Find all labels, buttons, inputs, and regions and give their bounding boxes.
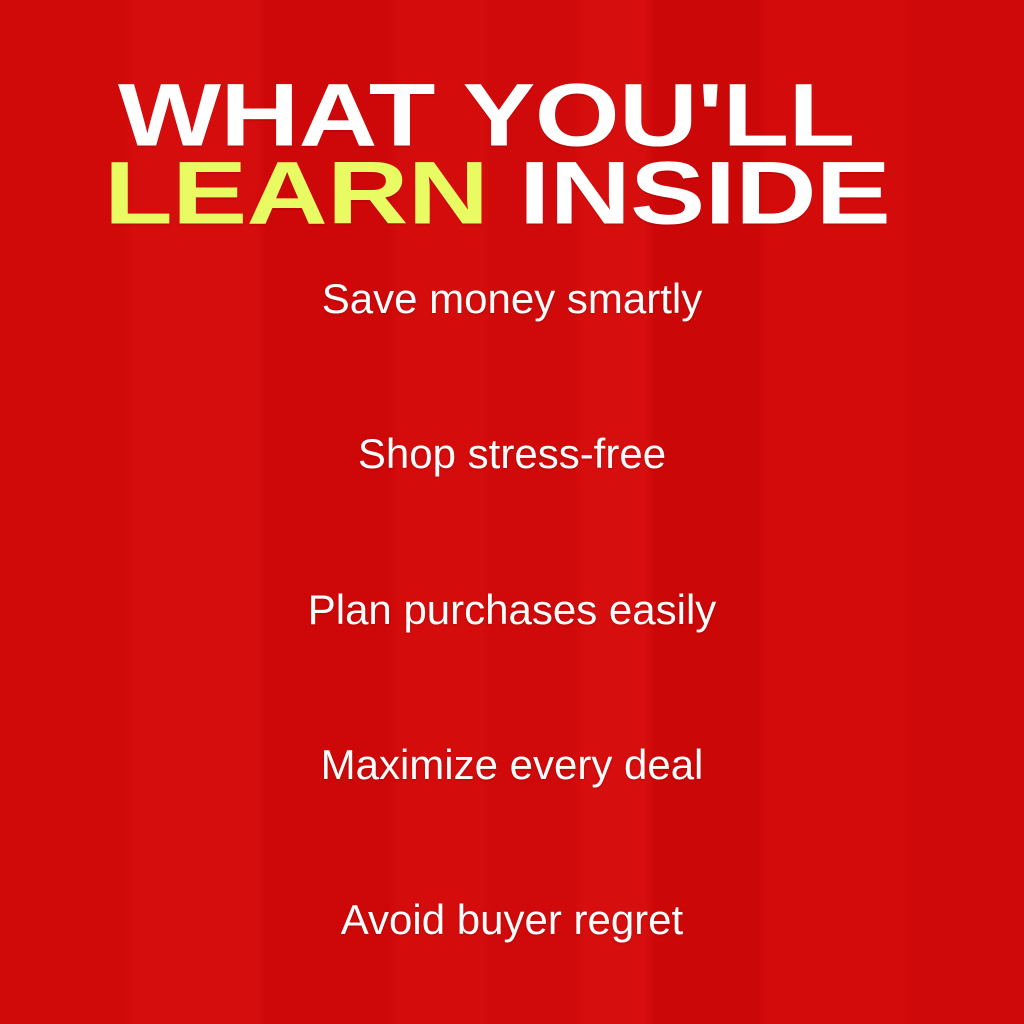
bullet-text-2: Shop stress-free [358, 430, 666, 477]
list-item: Maximize every deal [0, 744, 1024, 786]
bullet-list: Save money smartly Shop stress-free Plan… [0, 226, 1024, 1016]
list-item: Shop stress-free [0, 433, 1024, 475]
headline-line-2: LEARN INSIDE [0, 148, 1024, 237]
list-item: Save money smartly [0, 278, 1024, 320]
promo-slide: WHAT YOU'LL LEARN INSIDE Save money smar… [0, 0, 1024, 1024]
list-item: Plan purchases easily [0, 589, 1024, 631]
bullet-text-4: Maximize every deal [321, 741, 704, 788]
bullet-text-5: Avoid buyer regret [341, 896, 683, 943]
list-item: Avoid buyer regret [0, 899, 1024, 941]
bullet-text-1: Save money smartly [322, 275, 702, 322]
bullet-text-3: Plan purchases easily [308, 586, 717, 633]
